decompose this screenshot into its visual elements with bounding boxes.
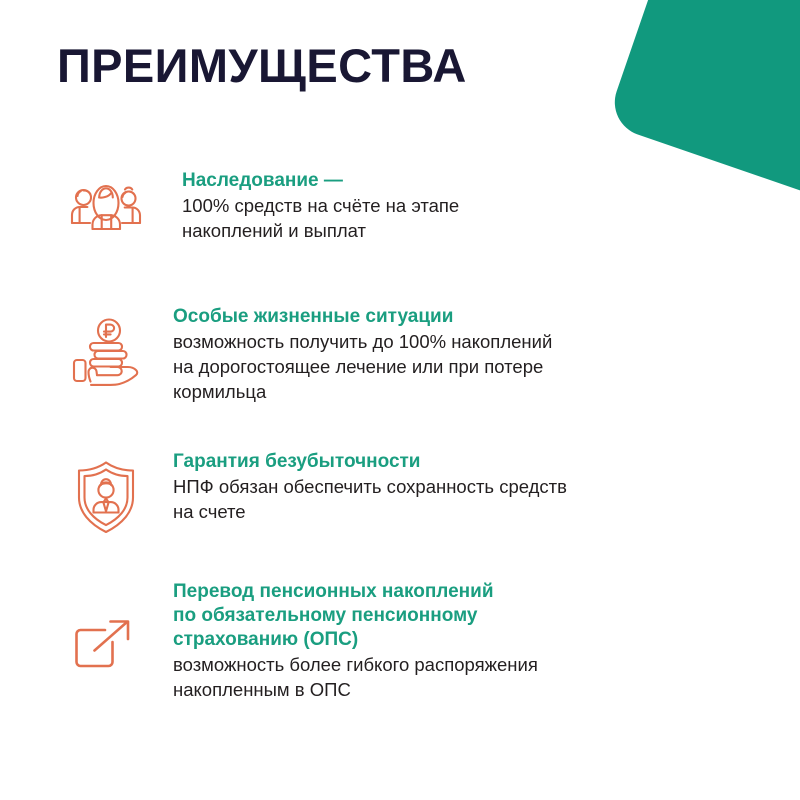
benefit-text-block: Гарантия безубыточности НПФ обязан обесп…: [173, 450, 693, 524]
benefit-body: возможность получить до 100% накоплений …: [173, 329, 693, 404]
benefit-heading: Особые жизненные ситуации: [173, 305, 693, 329]
benefit-body: 100% средств на счёте на этапе накоплени…: [182, 193, 702, 243]
benefit-heading: Перевод пенсионных накоплений по обязате…: [173, 580, 693, 652]
benefit-body: возможность более гибкого распоряжения н…: [173, 652, 693, 702]
family-group-icon: [66, 167, 146, 247]
benefit-text-block: Наследование — 100% средств на счёте на …: [173, 169, 702, 243]
shield-with-person-icon: [66, 460, 146, 540]
hand-with-ruble-coins-icon: [66, 317, 146, 397]
export-arrow-icon: [66, 616, 146, 696]
slide-canvas: ПРЕИМУЩЕСТВА: [0, 0, 800, 800]
page-title: ПРЕИМУЩЕСТВА: [57, 38, 467, 94]
benefit-heading: Гарантия безубыточности: [173, 450, 693, 474]
benefit-body: НПФ обязан обеспечить сохранность средст…: [173, 474, 693, 524]
benefit-text-block: Особые жизненные ситуации возможность по…: [173, 305, 693, 404]
benefit-text-block: Перевод пенсионных накоплений по обязате…: [173, 580, 693, 702]
benefit-heading: Наследование —: [182, 169, 702, 193]
